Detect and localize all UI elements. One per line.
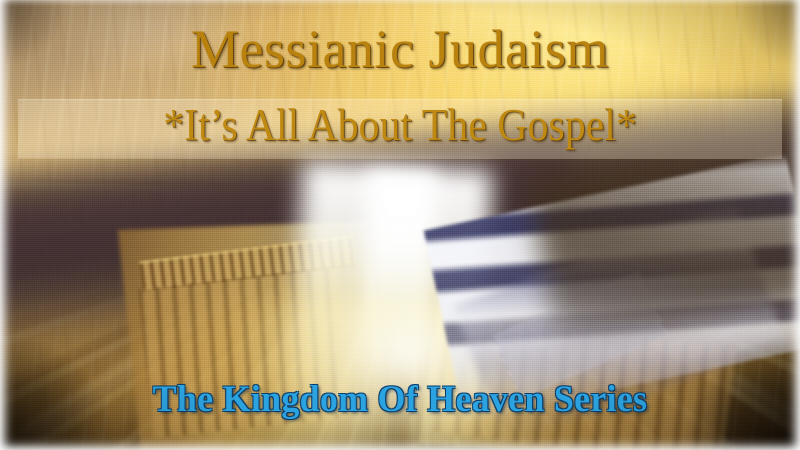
light-column-core bbox=[360, 169, 437, 381]
architecture-left-cornice bbox=[139, 235, 356, 292]
title-slide: Messianic Judaism *It’s All About The Go… bbox=[0, 0, 800, 450]
slide-title: Messianic Judaism bbox=[0, 22, 800, 76]
slide-subtitle: *It’s All About The Gospel* bbox=[28, 103, 772, 148]
series-label: The Kingdom Of Heaven Series bbox=[12, 381, 788, 418]
